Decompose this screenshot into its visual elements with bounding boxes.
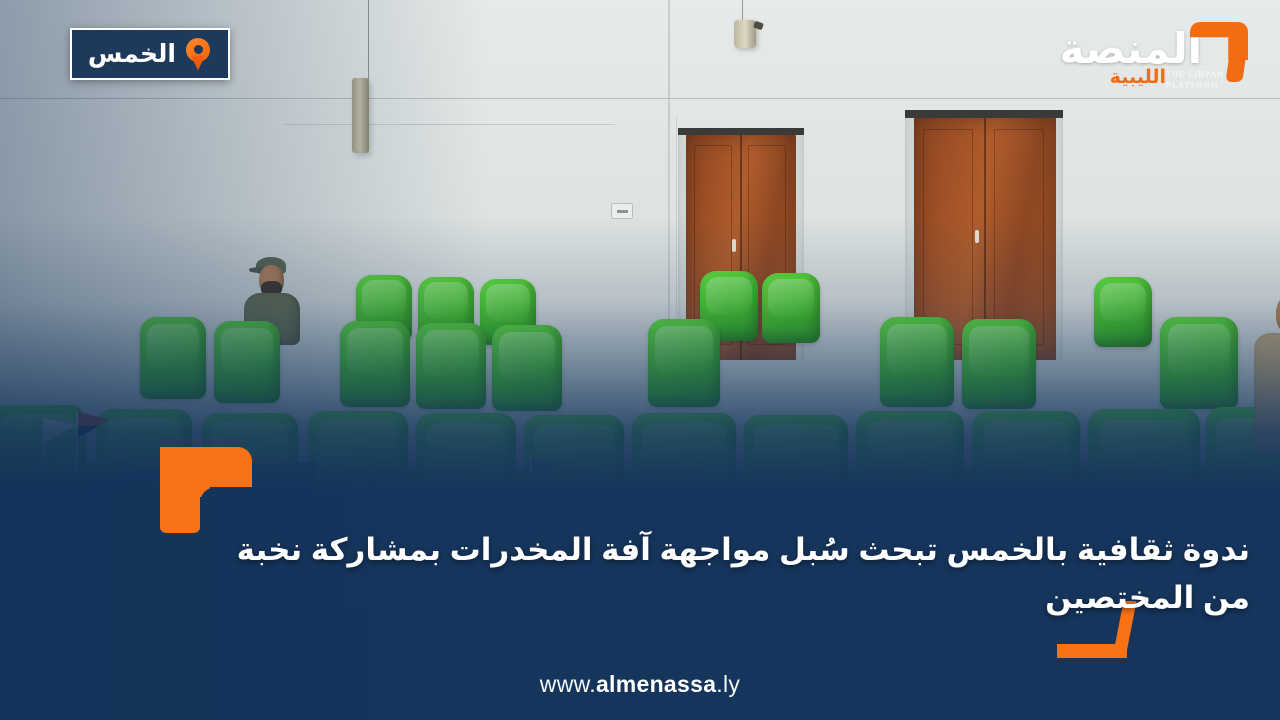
news-card: الخمس المنصة الليبية THE LIBYAN PLATFORM… (0, 0, 1280, 720)
website-url[interactable]: www.almenassa.ly (0, 671, 1280, 698)
location-badge[interactable]: الخمس (70, 28, 230, 80)
url-prefix: www. (540, 671, 596, 697)
location-label: الخمس (88, 42, 176, 67)
logo-subtitle-ar: الليبية (1110, 68, 1166, 87)
brand-logo[interactable]: المنصة الليبية THE LIBYAN PLATFORM (1054, 14, 1254, 100)
logo-en-line2: PLATFORM (1166, 81, 1219, 90)
map-pin-icon (186, 38, 210, 71)
decorative-bracket-left-icon (160, 447, 252, 533)
logo-wordmark-en: THE LIBYAN PLATFORM (1166, 70, 1242, 92)
url-name: almenassa (596, 671, 716, 697)
url-suffix: .ly (716, 671, 740, 697)
logo-en-line1: THE LIBYAN (1166, 70, 1224, 79)
logo-wordmark-ar: المنصة (1060, 28, 1202, 70)
headline: ندوة ثقافية بالخمس تبحث سُبل مواجهة آفة … (220, 526, 1250, 622)
